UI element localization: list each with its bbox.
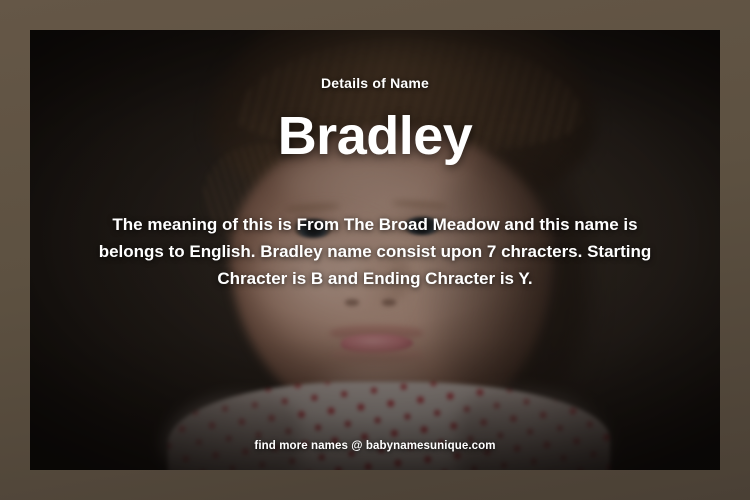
page-title: Bradley — [30, 108, 720, 165]
text-overlay: Details of Name Bradley The meaning of t… — [30, 30, 720, 470]
photo-card: Details of Name Bradley The meaning of t… — [30, 30, 720, 470]
name-card-frame: Details of Name Bradley The meaning of t… — [0, 0, 750, 500]
footer-attribution: find more names @ babynamesunique.com — [30, 440, 720, 452]
details-of-name-label: Details of Name — [30, 75, 720, 91]
name-description: The meaning of this is From The Broad Me… — [92, 212, 658, 293]
